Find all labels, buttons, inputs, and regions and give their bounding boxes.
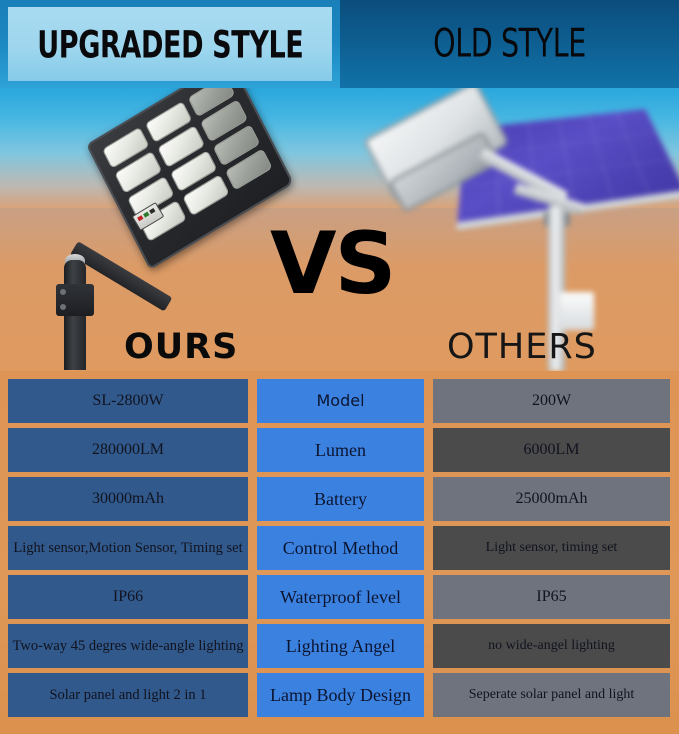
table-row: IP66 Waterproof level IP65	[8, 575, 671, 619]
comparison-table: SL-2800W Model 200W 280000LM Lumen 6000L…	[8, 379, 671, 717]
hero-photo-section: VS OURS OTHERS	[0, 88, 679, 371]
ours-label: OURS	[124, 327, 238, 367]
banner-left-strip: UPGRADED STYLE	[0, 0, 340, 88]
indicator-led-dark	[149, 208, 155, 214]
bracket-bolt	[60, 304, 66, 310]
indicator-led-red	[137, 215, 143, 221]
table-row: 30000mAh Battery 25000mAh	[8, 477, 671, 521]
feature-label-cell: Battery	[257, 477, 424, 521]
others-value-cell: Light sensor, timing set	[433, 526, 670, 570]
ours-value-cell: Two-way 45 degres wide-angle lighting	[8, 624, 248, 668]
ours-product-image	[48, 88, 298, 368]
others-label: OTHERS	[447, 327, 597, 367]
ours-value-cell: SL-2800W	[8, 379, 248, 423]
feature-label-cell: Lighting Angel	[257, 624, 424, 668]
others-value-cell: Seperate solar panel and light	[433, 673, 670, 717]
feature-label-cell: Lamp Body Design	[257, 673, 424, 717]
pole-bracket	[56, 284, 94, 316]
table-row: Light sensor,Motion Sensor, Timing set C…	[8, 526, 671, 570]
upgraded-style-box: UPGRADED STYLE	[8, 7, 332, 81]
others-value-cell: 6000LM	[433, 428, 670, 472]
ours-value-cell: 280000LM	[8, 428, 248, 472]
upgraded-style-title: UPGRADED STYLE	[37, 22, 303, 66]
ours-value-cell: Solar panel and light 2 in 1	[8, 673, 248, 717]
feature-label-cell: Lumen	[257, 428, 424, 472]
led-lamp-head-icon	[86, 88, 294, 270]
ours-value-cell: Light sensor,Motion Sensor, Timing set	[8, 526, 248, 570]
comparison-infographic: UPGRADED STYLE OLD STYLE	[0, 0, 679, 734]
ours-value-cell: IP66	[8, 575, 248, 619]
old-style-title: OLD STYLE	[367, 0, 652, 94]
table-row: Two-way 45 degres wide-angle lighting Li…	[8, 624, 671, 668]
ours-value-cell: 30000mAh	[8, 477, 248, 521]
others-value-cell: 200W	[433, 379, 670, 423]
indicator-led-green	[143, 212, 149, 218]
bracket-bolt	[60, 289, 66, 295]
banner-right-strip: OLD STYLE	[340, 0, 679, 88]
comparison-table-section: SL-2800W Model 200W 280000LM Lumen 6000L…	[0, 371, 679, 734]
header-banner: UPGRADED STYLE OLD STYLE	[0, 0, 679, 88]
table-row: SL-2800W Model 200W	[8, 379, 671, 423]
feature-label-cell: Control Method	[257, 526, 424, 570]
feature-label-cell: Model	[257, 379, 424, 423]
table-row: Solar panel and light 2 in 1 Lamp Body D…	[8, 673, 671, 717]
table-row: 280000LM Lumen 6000LM	[8, 428, 671, 472]
feature-label-cell: Waterproof level	[257, 575, 424, 619]
others-value-cell: 25000mAh	[433, 477, 670, 521]
battery-box	[560, 292, 594, 330]
others-value-cell: IP65	[433, 575, 670, 619]
others-value-cell: no wide-angel lighting	[433, 624, 670, 668]
vs-label: VS	[270, 221, 395, 307]
